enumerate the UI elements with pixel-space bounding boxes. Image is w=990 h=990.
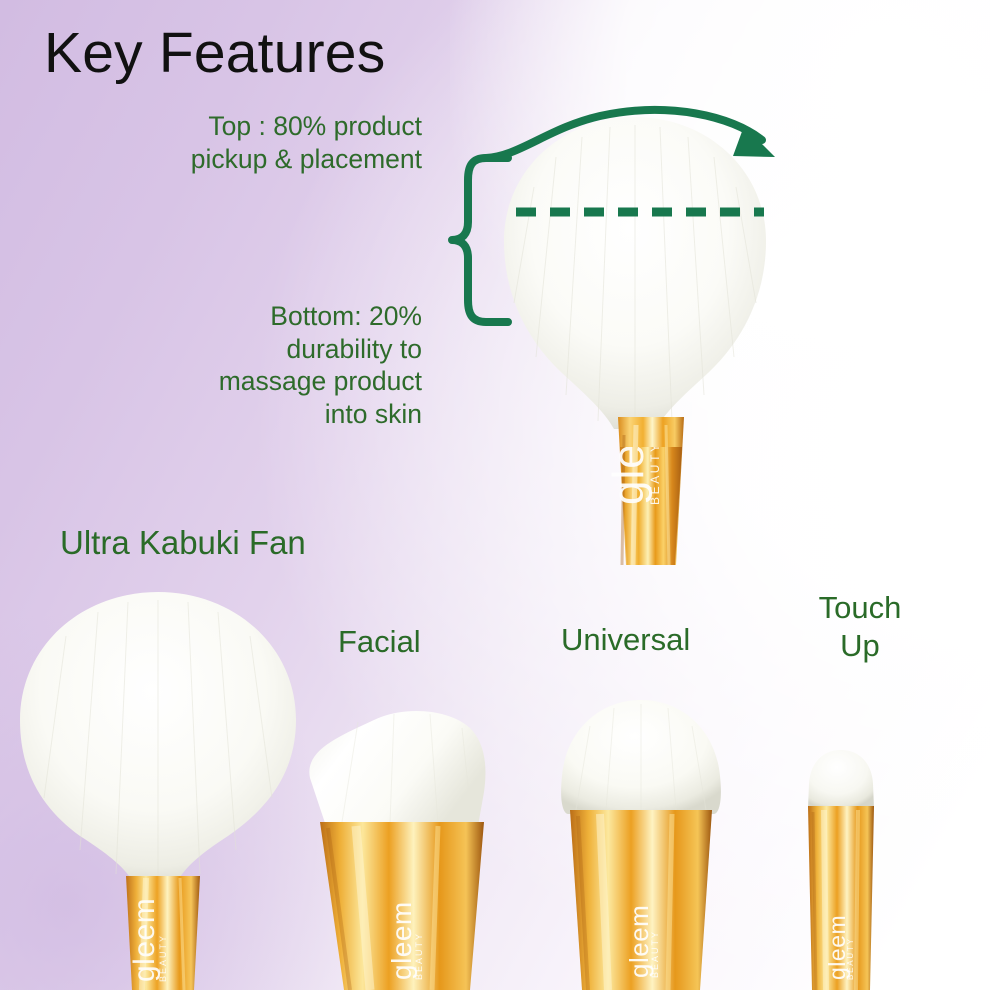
brush-universal: gleem BEAUTY: [548, 690, 734, 990]
universal-brand-sub: BEAUTY: [650, 930, 660, 978]
fan-brand-wordmark: gleem BEAUTY: [104, 878, 214, 990]
hero-brush-ultra-kabuki-fan: gleem BEAUTY: [470, 95, 800, 565]
universal-brand-wordmark: gleem BEAUTY: [598, 860, 698, 990]
brush-label-touch-up: Touch Up: [798, 589, 922, 665]
hero-brand-wordmark: gleem BEAUTY: [590, 447, 710, 565]
infographic-canvas: gleem BEAUTY: [0, 0, 990, 990]
fan-brand-name: gleem: [128, 898, 162, 982]
facial-bristle-head: [309, 711, 485, 826]
facial-brand-wordmark: gleem BEAUTY: [358, 868, 468, 990]
touchup-brand-sub: BEAUTY: [846, 937, 855, 980]
touchup-bristle-head: [808, 750, 874, 808]
hero-brand-sub: BEAUTY: [648, 447, 662, 505]
brush-label-universal: Universal: [561, 622, 690, 658]
facial-brand-sub: BEAUTY: [414, 932, 424, 980]
annotation-bottom: Bottom: 20% durability to massage produc…: [190, 300, 422, 431]
brush-facial: gleem BEAUTY: [298, 700, 532, 990]
annotation-top: Top : 80% product pickup & placement: [190, 110, 422, 175]
brush-label-ultra-kabuki-fan: Ultra Kabuki Fan: [60, 524, 306, 562]
touchup-brand-wordmark: gleem BEAUTY: [798, 878, 890, 990]
page-title: Key Features: [44, 22, 385, 86]
fan-brand-sub: BEAUTY: [158, 934, 168, 982]
brush-touch-up: gleem BEAUTY: [784, 742, 900, 990]
brush-ultra-kabuki-fan: gleem BEAUTY: [8, 578, 318, 990]
hero-brand-name: gleem: [604, 447, 654, 505]
brush-label-facial: Facial: [338, 624, 421, 660]
